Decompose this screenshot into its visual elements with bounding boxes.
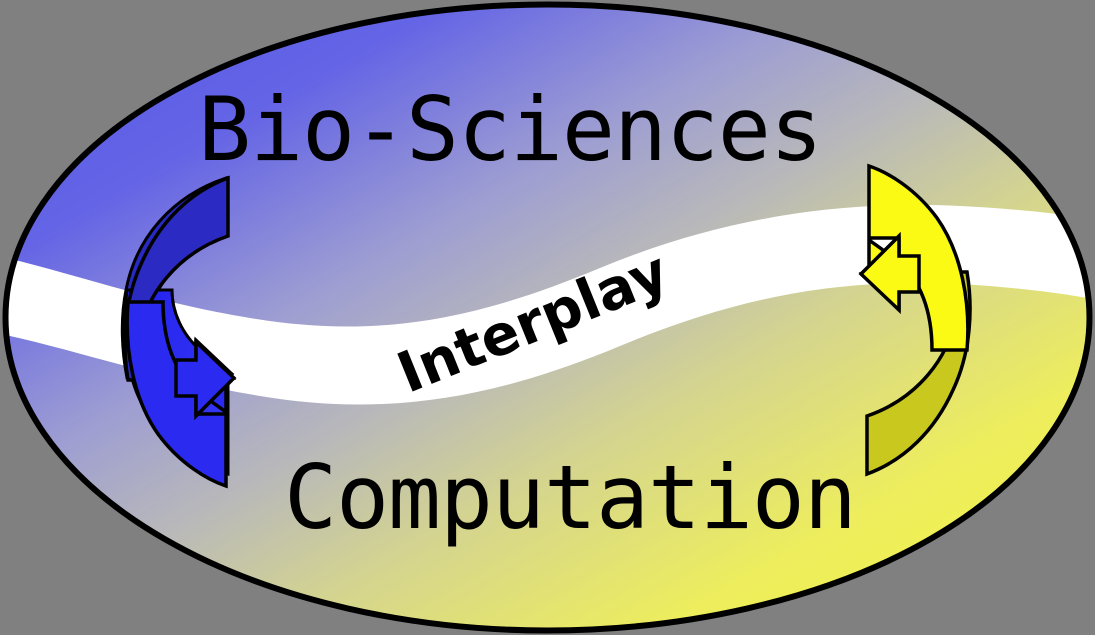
logo-canvas: Bio-Sciences Computation Interplay — [0, 0, 1095, 635]
bottom-label: Computation — [284, 446, 856, 549]
interplay-logo-graphic: Bio-Sciences Computation Interplay — [0, 0, 1095, 635]
top-label: Bio-Sciences — [198, 78, 822, 181]
